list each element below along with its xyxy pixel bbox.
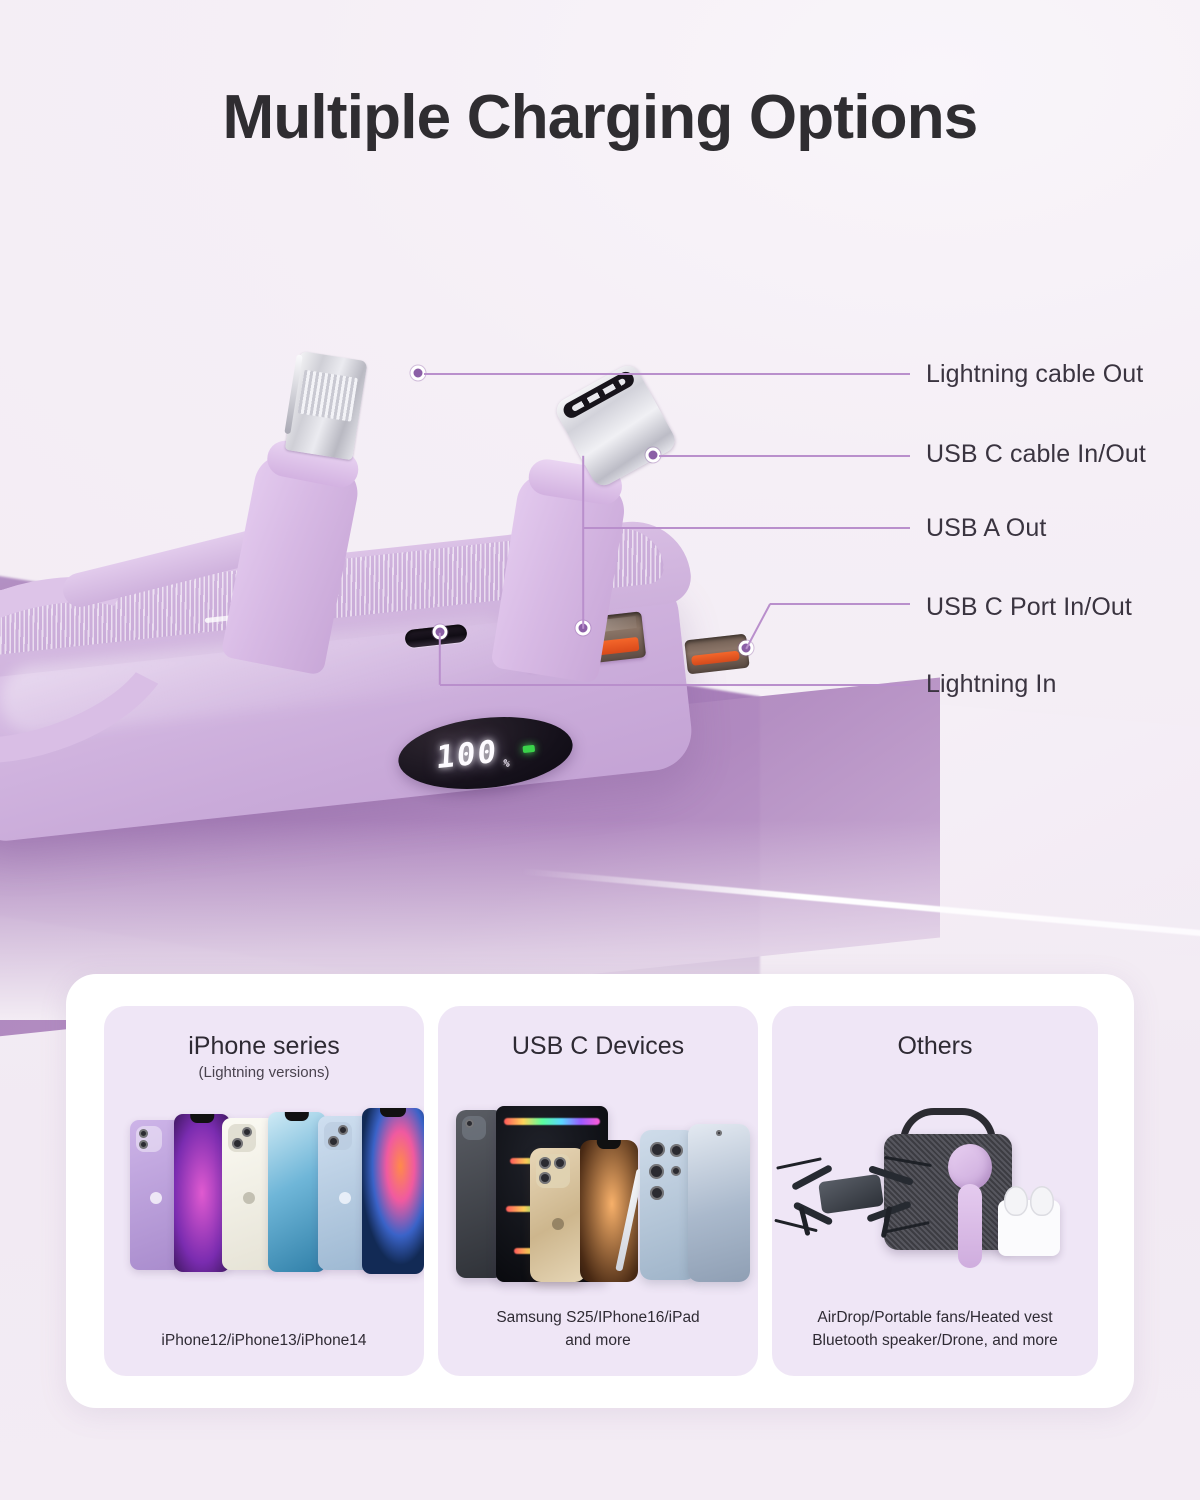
card-caption-usb-c-line2: and more [565, 1332, 630, 1349]
page-title: Multiple Charging Options [0, 86, 1200, 149]
camera-lens [554, 1157, 566, 1169]
card-art-usb-c [438, 1102, 758, 1292]
screen-notch [285, 1112, 309, 1121]
apple-logo [150, 1192, 162, 1204]
airpod-bud [1030, 1186, 1054, 1216]
card-caption-iphone: iPhone12/iPhone13/iPhone14 [104, 1329, 424, 1352]
ipad-wallpaper-streak [504, 1118, 600, 1125]
drone-propeller [776, 1157, 822, 1169]
camera-island [136, 1126, 162, 1152]
camera-island [228, 1124, 256, 1152]
portable-fan-body [958, 1184, 982, 1268]
lightning-connector-pins [298, 370, 358, 422]
drone-propeller [774, 1219, 817, 1233]
camera-island [324, 1122, 352, 1150]
iphone-14-front [362, 1108, 424, 1274]
camera-lens [649, 1164, 664, 1179]
screen-notch [380, 1108, 406, 1117]
card-title-usb-c: USB C Devices [438, 1032, 758, 1061]
card-iphone-series: iPhone series (Lightning versions) [104, 1006, 424, 1376]
camera-lens [539, 1157, 551, 1169]
card-title-iphone: iPhone series [104, 1032, 424, 1061]
camera-lens [539, 1172, 551, 1184]
airpod-bud [1004, 1186, 1028, 1216]
camera-lens [650, 1186, 664, 1200]
camera-lens [465, 1119, 474, 1128]
camera-lens [650, 1142, 665, 1157]
compatibility-cards: iPhone series (Lightning versions) [104, 1006, 1098, 1376]
samsung-front [688, 1124, 750, 1282]
camera-lens [671, 1166, 681, 1176]
punch-hole-camera [716, 1130, 722, 1136]
battery-percentage-unit: % [503, 756, 510, 770]
card-caption-others: AirDrop/Portable fans/Heated vest Blueto… [772, 1306, 1098, 1353]
lightning-connector-icon [285, 351, 368, 460]
camera-lens [139, 1140, 148, 1149]
camera-lens [338, 1125, 348, 1135]
card-usb-c-devices: USB C Devices [438, 1006, 758, 1376]
card-art-iphone [104, 1102, 424, 1292]
camera-lens [139, 1129, 148, 1138]
iphone-pro-gold-back [530, 1148, 586, 1282]
card-caption-usb-c: Samsung S25/IPhone16/iPad and more [438, 1306, 758, 1353]
usb-c-tongue [691, 651, 740, 666]
battery-percentage-value: 100 [436, 733, 500, 776]
camera-lens [670, 1144, 683, 1157]
camera-island [462, 1116, 486, 1140]
camera-island [536, 1154, 570, 1188]
usb-c-port [684, 634, 749, 675]
charging-status-indicator [522, 744, 535, 752]
screen-notch [597, 1140, 621, 1149]
screen-notch [190, 1114, 214, 1123]
camera-lens [328, 1136, 339, 1147]
camera-lens [232, 1138, 243, 1149]
card-caption-usb-c-line1: Samsung S25/IPhone16/iPad [496, 1309, 699, 1326]
card-others: Others [772, 1006, 1098, 1376]
bluetooth-speaker [884, 1134, 1012, 1250]
card-caption-others-line2: Bluetooth speaker/Drone, and more [812, 1332, 1058, 1349]
apple-logo [552, 1218, 564, 1230]
card-title-others: Others [772, 1032, 1098, 1061]
card-art-others [772, 1102, 1098, 1292]
drone-body [818, 1174, 884, 1214]
apple-logo [339, 1192, 351, 1204]
infographic-stage: Multiple Charging Options 100 % [0, 0, 1200, 1500]
camera-lens [242, 1127, 252, 1137]
card-caption-others-line1: AirDrop/Portable fans/Heated vest [817, 1309, 1052, 1326]
apple-logo [243, 1192, 255, 1204]
card-subtitle-iphone: (Lightning versions) [104, 1064, 424, 1081]
